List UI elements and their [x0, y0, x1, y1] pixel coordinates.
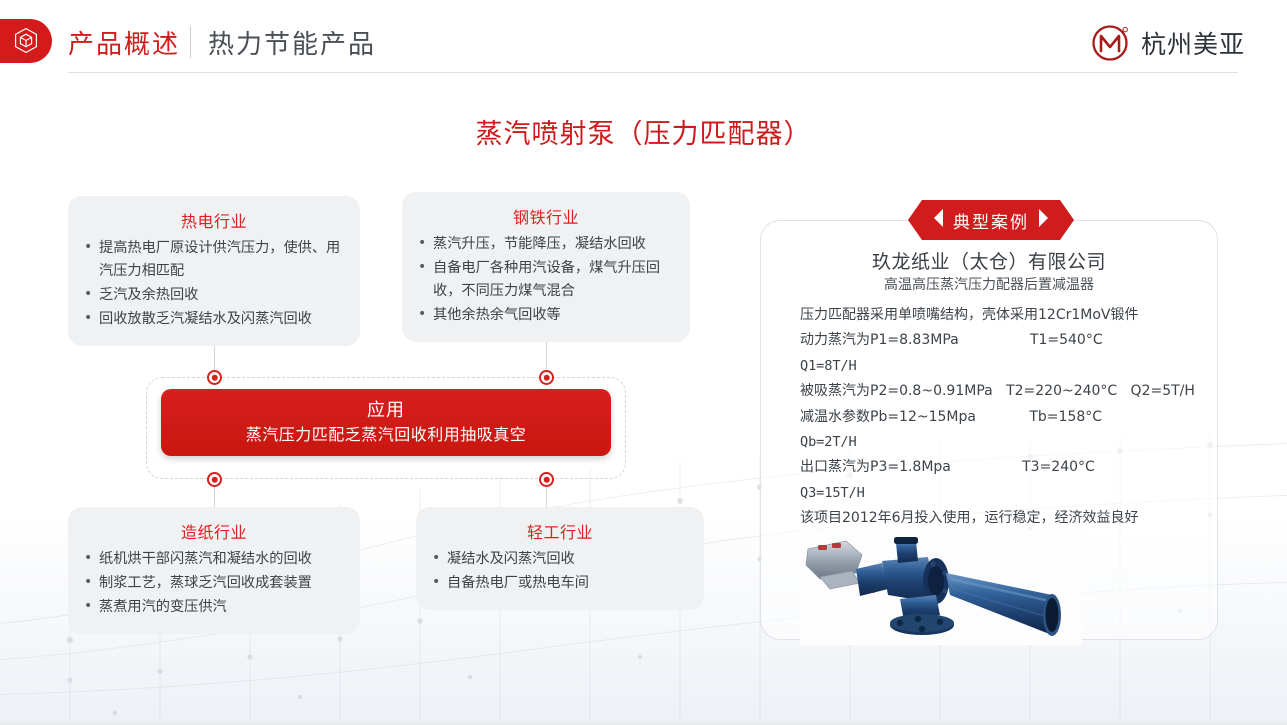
industry-card-light: 轻工行业 凝结水及闪蒸汽回收 自备热电厂或热电车间: [416, 507, 704, 610]
application-diagram: 应用 蒸汽压力匹配乏蒸汽回收利用抽吸真空 热电行业 提高热电厂原设计供汽压力，使…: [0, 180, 720, 660]
case-subtitle: 高温高压蒸汽压力配器后置减温器: [760, 274, 1218, 294]
connector-dot-top-right: [539, 370, 554, 385]
list-item: 其他余热余气回收等: [416, 304, 676, 327]
connector-dot-top-left: [207, 370, 222, 385]
card-title-steel: 钢铁行业: [416, 204, 676, 228]
list-item: 纸机烘干部闪蒸汽和凝结水的回收: [82, 548, 346, 571]
list-item: 自备电厂各种用汽设备，煤气升压回收，不同压力煤气混合: [416, 257, 676, 303]
card-list-steel: 蒸汽升压，节能降压，凝结水回收 自备电厂各种用汽设备，煤气升压回收，不同压力煤气…: [416, 233, 676, 327]
case-product-photo: [800, 529, 1082, 645]
hexagon-cube-icon: [13, 27, 39, 55]
connector-dot-bottom-right: [539, 472, 554, 487]
spec-line: 出口蒸汽为P3=1.8Mpa T3=240°C: [800, 455, 1220, 480]
connector-dot-bottom-left: [207, 472, 222, 487]
card-title-light: 轻工行业: [430, 519, 690, 543]
header-badge: [0, 19, 52, 63]
case-company-name: 玖龙纸业（太仓）有限公司: [760, 247, 1218, 274]
spec-line: 减温水参数Pb=12~15Mpa Tb=158°C: [800, 405, 1220, 430]
list-item: 自备热电厂或热电车间: [430, 572, 690, 595]
application-box: 应用 蒸汽压力匹配乏蒸汽回收利用抽吸真空: [161, 389, 611, 456]
card-title-thermal: 热电行业: [82, 208, 346, 232]
case-banner-label: 典型案例: [953, 208, 1029, 233]
industry-card-steel: 钢铁行业 蒸汽升压，节能降压，凝结水回收 自备电厂各种用汽设备，煤气升压回收，不…: [402, 192, 690, 342]
header-divider: [190, 26, 191, 58]
page-title: 产品概述: [68, 24, 180, 61]
company-logo: 杭州美亚: [1090, 22, 1245, 64]
spec-line: Q1=8T/H: [800, 354, 1220, 379]
spec-line: 该项目2012年6月投入使用，运行稳定，经济效益良好: [800, 506, 1220, 531]
slide-main-title: 蒸汽喷射泵（压力匹配器）: [0, 112, 1287, 151]
list-item: 蒸煮用汽的变压供汽: [82, 596, 346, 619]
logo-text: 杭州美亚: [1141, 25, 1245, 61]
card-title-paper: 造纸行业: [82, 519, 346, 543]
meiya-circle-m-logo-icon: [1090, 22, 1132, 64]
spec-line: 动力蒸汽为P1=8.83MPa T1=540°C: [800, 328, 1220, 353]
card-list-thermal: 提高热电厂原设计供汽压力，使供、用汽压力相匹配 乏汽及余热回收 回收放散乏汽凝结…: [82, 237, 346, 331]
spec-line: 压力匹配器采用单喷嘴结构，壳体采用12Cr1MoV锻件: [800, 303, 1220, 328]
case-spec-list: 压力匹配器采用单喷嘴结构，壳体采用12Cr1MoV锻件 动力蒸汽为P1=8.83…: [800, 303, 1220, 532]
list-item: 凝结水及闪蒸汽回收: [430, 548, 690, 571]
spec-line: Q3=15T/H: [800, 481, 1220, 506]
list-item: 回收放散乏汽凝结水及闪蒸汽回收: [82, 308, 346, 331]
page-header: 产品概述 热力节能产品 杭州美亚: [0, 0, 1287, 78]
list-item: 提高热电厂原设计供汽压力，使供、用汽压力相匹配: [82, 237, 346, 283]
application-subtitle: 蒸汽压力匹配乏蒸汽回收利用抽吸真空: [246, 423, 527, 446]
application-title: 应用: [367, 399, 405, 423]
banner-arrow-right-icon: [1038, 209, 1049, 232]
page-subtitle: 热力节能产品: [208, 24, 376, 61]
header-underline: [68, 72, 1238, 73]
case-study-banner: 典型案例: [908, 200, 1074, 240]
spec-line: Qb=2T/H: [800, 430, 1220, 455]
industry-card-paper: 造纸行业 纸机烘干部闪蒸汽和凝结水的回收 制浆工艺，蒸球乏汽回收成套装置 蒸煮用…: [68, 507, 360, 634]
list-item: 乏汽及余热回收: [82, 284, 346, 307]
slide-root: 产品概述 热力节能产品 杭州美亚 蒸汽喷射泵（压力匹配器） 应用 蒸: [0, 0, 1287, 725]
card-list-paper: 纸机烘干部闪蒸汽和凝结水的回收 制浆工艺，蒸球乏汽回收成套装置 蒸煮用汽的变压供…: [82, 548, 346, 619]
list-item: 制浆工艺，蒸球乏汽回收成套装置: [82, 572, 346, 595]
card-list-light: 凝结水及闪蒸汽回收 自备热电厂或热电车间: [430, 548, 690, 595]
spec-line: 被吸蒸汽为P2=0.8~0.91MPa T2=220~240°C Q2=5T/H: [800, 379, 1220, 404]
industry-card-thermal: 热电行业 提高热电厂原设计供汽压力，使供、用汽压力相匹配 乏汽及余热回收 回收放…: [68, 196, 360, 346]
list-item: 蒸汽升压，节能降压，凝结水回收: [416, 233, 676, 256]
banner-arrow-left-icon: [933, 209, 944, 232]
